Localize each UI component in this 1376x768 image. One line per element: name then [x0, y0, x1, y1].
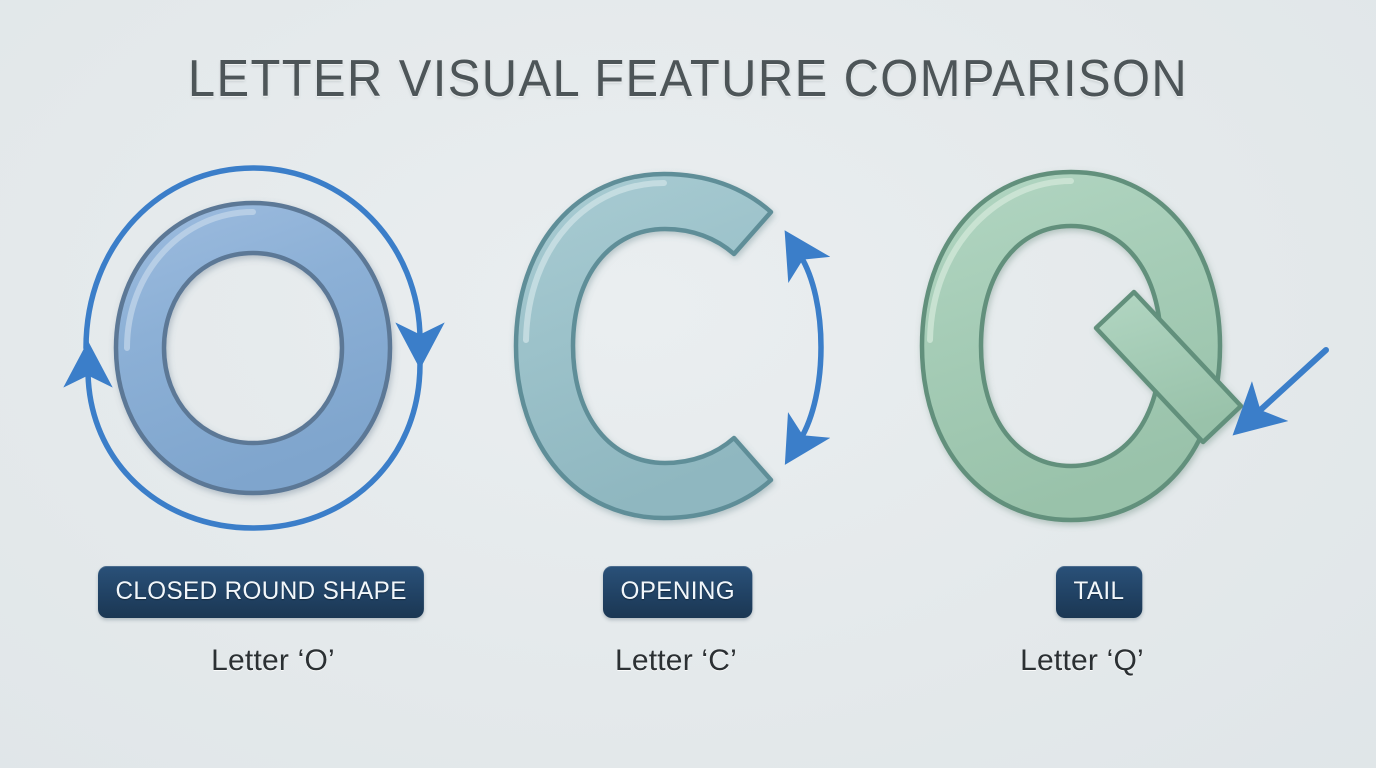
feature-badge-opening[interactable]: OPENING	[603, 566, 752, 618]
caption-letter-o: Letter ‘O’	[63, 642, 483, 680]
badge-row-c: OPENING	[478, 566, 898, 618]
badge-row-o: CLOSED ROUND SHAPE	[60, 566, 480, 618]
letter-o-graphic	[60, 150, 480, 550]
letter-c-graphic	[478, 150, 898, 550]
letter-q-stage	[896, 150, 1316, 550]
letter-c-stage	[478, 150, 898, 550]
diagram-canvas: LETTER VISUAL FEATURE COMPARISON	[0, 0, 1376, 768]
caption-letter-q: Letter ‘Q’	[872, 642, 1292, 680]
page-title: LETTER VISUAL FEATURE COMPARISON	[41, 48, 1334, 110]
badge-row-q: TAIL	[896, 566, 1316, 618]
feature-badge-closed-round-shape[interactable]: CLOSED ROUND SHAPE	[98, 566, 424, 618]
comparison-column-q: TAIL Letter ‘Q’	[896, 150, 1316, 710]
letter-o-stage	[60, 150, 480, 550]
letter-c-body	[516, 174, 771, 518]
feature-badge-tail[interactable]: TAIL	[1056, 566, 1142, 618]
tail-pointer-arrow-annotation	[1256, 350, 1326, 414]
caption-letter-c: Letter ‘C’	[466, 642, 886, 680]
opening-gap-arrow-annotation	[800, 255, 821, 440]
comparison-column-c: OPENING Letter ‘C’	[478, 150, 898, 710]
letter-q-bowl	[922, 172, 1241, 520]
letter-o-ring	[116, 203, 390, 493]
comparison-column-o: CLOSED ROUND SHAPE Letter ‘O’	[60, 150, 480, 710]
letter-q-graphic	[896, 150, 1366, 550]
